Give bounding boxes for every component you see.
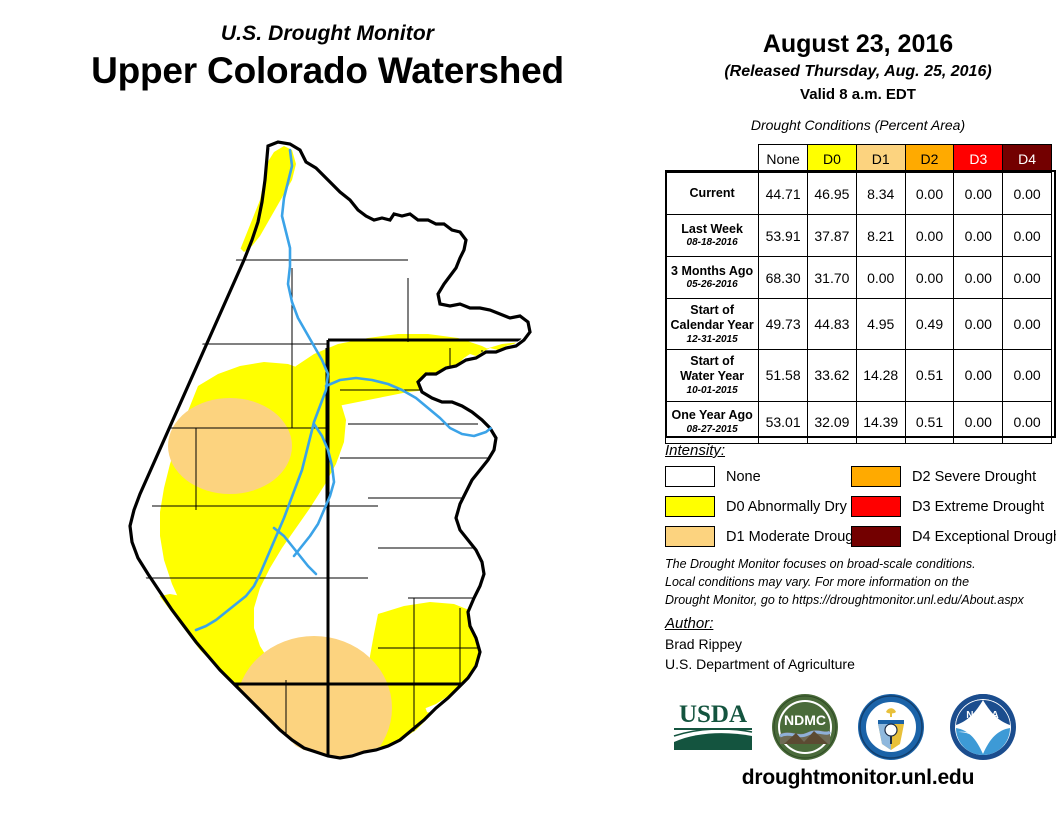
logo-row: USDA NDMC [660,690,1056,770]
row-date: 10-01-2015 [669,385,755,397]
row-date: 05-26-2016 [669,279,755,291]
ndmc-logo-icon[interactable]: NDMC [770,692,840,762]
col-header-d2: D2 [905,145,954,173]
legend-label-d2: D2 Severe Drought [912,469,1036,485]
table-corner-cell [666,145,759,173]
usda-logo-icon[interactable]: USDA [670,698,756,756]
noaa-logo-icon[interactable]: NOAA [948,692,1018,762]
page-title: Upper Colorado Watershed [0,50,655,92]
date-block: August 23, 2016 (Released Thursday, Aug.… [660,0,1056,103]
title-block: U.S. Drought Monitor Upper Colorado Wate… [0,22,655,92]
legend-item-d0: D0 Abnormally Dry [665,496,851,517]
swatch-d0-icon [665,496,715,517]
author-name: Brad Rippey [665,636,1051,652]
row-label-line: Start of [669,354,755,369]
svg-text:NDMC: NDMC [784,712,826,728]
swatch-d4-icon [851,526,901,547]
col-header-d3: D3 [954,145,1003,173]
cell-d0: 44.83 [808,299,857,350]
drought-map[interactable] [78,128,648,808]
note-line-1: The Drought Monitor focuses on broad-sca… [665,556,1051,574]
cell-none: 68.30 [759,257,808,299]
cell-d4: 0.00 [1003,401,1052,443]
legend-item-d1: D1 Moderate Drought [665,526,851,547]
swatch-none-icon [665,466,715,487]
cell-d0: 46.95 [808,173,857,215]
map-svg [78,128,648,808]
commerce-seal-icon[interactable] [856,692,926,762]
cell-d3: 0.00 [954,173,1003,215]
cell-d0: 32.09 [808,401,857,443]
table-row: 3 Months Ago05-26-201668.3031.700.000.00… [666,257,1052,299]
cell-d3: 0.00 [954,350,1003,401]
row-label-line: Last Week [669,222,755,237]
row-label-line: Start of [669,303,755,318]
cell-d2: 0.51 [905,401,954,443]
legend-label-none: None [726,469,761,485]
row-label: 3 Months Ago05-26-2016 [666,257,759,299]
cell-d2: 0.51 [905,350,954,401]
report-date: August 23, 2016 [660,30,1056,59]
legend-label-d3: D3 Extreme Drought [912,499,1044,515]
row-label-line: 3 Months Ago [669,264,755,279]
note-line-3[interactable]: Drought Monitor, go to https://droughtmo… [665,592,1051,610]
author-org: U.S. Department of Agriculture [665,656,1051,672]
table-row: Start ofCalendar Year12-31-201549.7344.8… [666,299,1052,350]
row-label: Current [666,173,759,215]
table-row: One Year Ago08-27-201553.0132.0914.390.5… [666,401,1052,443]
page-subtitle: U.S. Drought Monitor [0,22,655,46]
cell-none: 49.73 [759,299,808,350]
cell-d1: 14.39 [856,401,905,443]
col-header-d0: D0 [808,145,857,173]
cell-d3: 0.00 [954,257,1003,299]
cell-d2: 0.49 [905,299,954,350]
cell-d4: 0.00 [1003,215,1052,257]
row-label-line: One Year Ago [669,408,755,423]
cell-d1: 0.00 [856,257,905,299]
cell-none: 53.91 [759,215,808,257]
cell-d1: 4.95 [856,299,905,350]
cell-d4: 0.00 [1003,257,1052,299]
svg-text:USDA: USDA [679,701,747,728]
row-label-line: Water Year [669,369,755,384]
table-row: Start ofWater Year10-01-201551.5833.6214… [666,350,1052,401]
cell-d2: 0.00 [905,173,954,215]
cell-d4: 0.00 [1003,173,1052,215]
row-date: 08-27-2015 [669,424,755,436]
table-header-row: None D0 D1 D2 D3 D4 [666,145,1052,173]
legend-item-none: None [665,466,851,487]
release-date: (Released Thursday, Aug. 25, 2016) [660,63,1056,81]
cell-d3: 0.00 [954,215,1003,257]
cell-d1: 8.34 [856,173,905,215]
note-line-2: Local conditions may vary. For more info… [665,574,1051,592]
legend-item-d4: D4 Exceptional Drought [851,526,1037,547]
table-row: Last Week08-18-201653.9137.878.210.000.0… [666,215,1052,257]
table-body: Current44.7146.958.340.000.000.00Last We… [666,173,1052,444]
table-row: Current44.7146.958.340.000.000.00 [666,173,1052,215]
cell-d1: 14.28 [856,350,905,401]
cell-d3: 0.00 [954,299,1003,350]
legend-grid: None D2 Severe Drought D0 Abnormally Dry… [665,466,1055,547]
legend-label-d1: D1 Moderate Drought [726,529,865,545]
svg-text:NOAA: NOAA [966,710,999,721]
swatch-d2-icon [851,466,901,487]
author-title: Author: [665,615,1051,632]
author-block: Author: Brad Rippey U.S. Department of A… [665,615,1051,672]
row-label-line: Current [669,186,755,201]
cell-d4: 0.00 [1003,299,1052,350]
legend-item-d3: D3 Extreme Drought [851,496,1037,517]
cell-none: 51.58 [759,350,808,401]
cell-d2: 0.00 [905,215,954,257]
cell-d0: 33.62 [808,350,857,401]
valid-time: Valid 8 a.m. EDT [660,86,1056,103]
cell-d0: 37.87 [808,215,857,257]
col-header-none: None [759,145,808,173]
row-date: 08-18-2016 [669,237,755,249]
legend-label-d4: D4 Exceptional Drought [912,529,1056,545]
row-label: Start ofWater Year10-01-2015 [666,350,759,401]
cell-d2: 0.00 [905,257,954,299]
swatch-d3-icon [851,496,901,517]
row-label: Start ofCalendar Year12-31-2015 [666,299,759,350]
col-header-d1: D1 [856,145,905,173]
swatch-d1-icon [665,526,715,547]
intensity-legend: Intensity: None D2 Severe Drought D0 Abn… [665,442,1055,547]
legend-title: Intensity: [665,442,1055,459]
row-date: 12-31-2015 [669,334,755,346]
drought-conditions-table: None D0 D1 D2 D3 D4 Current44.7146.958.3… [665,144,1052,444]
cell-none: 44.71 [759,173,808,215]
row-label-line: Calendar Year [669,318,755,333]
cell-d3: 0.00 [954,401,1003,443]
col-header-d4: D4 [1003,145,1052,173]
cell-none: 53.01 [759,401,808,443]
legend-label-d0: D0 Abnormally Dry [726,499,847,515]
right-panel: August 23, 2016 (Released Thursday, Aug.… [660,0,1056,816]
table-caption: Drought Conditions (Percent Area) [660,117,1056,133]
legend-item-d2: D2 Severe Drought [851,466,1037,487]
cell-d4: 0.00 [1003,350,1052,401]
cell-d1: 8.21 [856,215,905,257]
disclaimer-note: The Drought Monitor focuses on broad-sca… [665,556,1051,609]
website-url[interactable]: droughtmonitor.unl.edu [660,766,1056,790]
cell-d0: 31.70 [808,257,857,299]
row-label: Last Week08-18-2016 [666,215,759,257]
row-label: One Year Ago08-27-2015 [666,401,759,443]
